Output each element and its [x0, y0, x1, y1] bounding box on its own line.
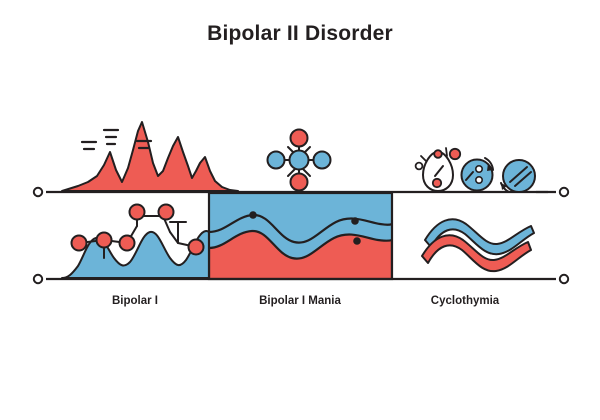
molecule-node-right: [314, 152, 331, 169]
network-node: [97, 233, 112, 248]
blue-red-wavy-ribbons: [422, 219, 534, 271]
red-jagged-peaks-area-chart: [62, 122, 238, 191]
network-node: [72, 236, 87, 251]
panel-label-bipolar-i-mania: Bipolar I Mania: [225, 295, 375, 307]
egg-face-dot-icon: [433, 179, 441, 187]
blue-slashed-circle-icon: [501, 160, 535, 192]
molecule-diagram: [268, 130, 331, 191]
panel-bipolar-i-mania: [209, 130, 392, 280]
infographic-page: Bipolar II Disorder: [0, 0, 600, 420]
upper-axis-right-endpoint-icon: [560, 188, 568, 196]
panel-label-bipolar-i: Bipolar I: [60, 295, 210, 307]
data-point-marker: [353, 237, 361, 245]
data-point-marker: [351, 217, 359, 225]
panel-cyclothymia: [416, 148, 548, 271]
equals-mark-icon-1: [82, 142, 96, 149]
molecule-node-left: [268, 152, 285, 169]
upper-axis-left-endpoint-icon: [34, 188, 42, 196]
lower-axis-right-endpoint-icon: [560, 275, 568, 283]
lower-axis-left-endpoint-icon: [34, 275, 42, 283]
molecule-node-bottom: [291, 174, 308, 191]
blue-face-rotate-icon: [462, 158, 494, 191]
network-node: [159, 205, 174, 220]
equals-mark-icon-2: [104, 130, 118, 144]
network-node: [120, 236, 135, 251]
stacked-wave-rectangle: [209, 193, 392, 279]
data-point-marker: [249, 211, 257, 219]
molecule-node-top: [291, 130, 308, 147]
molecule-node-center: [290, 151, 309, 170]
infographic-canvas: [0, 0, 600, 420]
network-node: [130, 205, 145, 220]
network-node: [189, 240, 204, 255]
panel-label-cyclothymia: Cyclothymia: [390, 295, 540, 307]
